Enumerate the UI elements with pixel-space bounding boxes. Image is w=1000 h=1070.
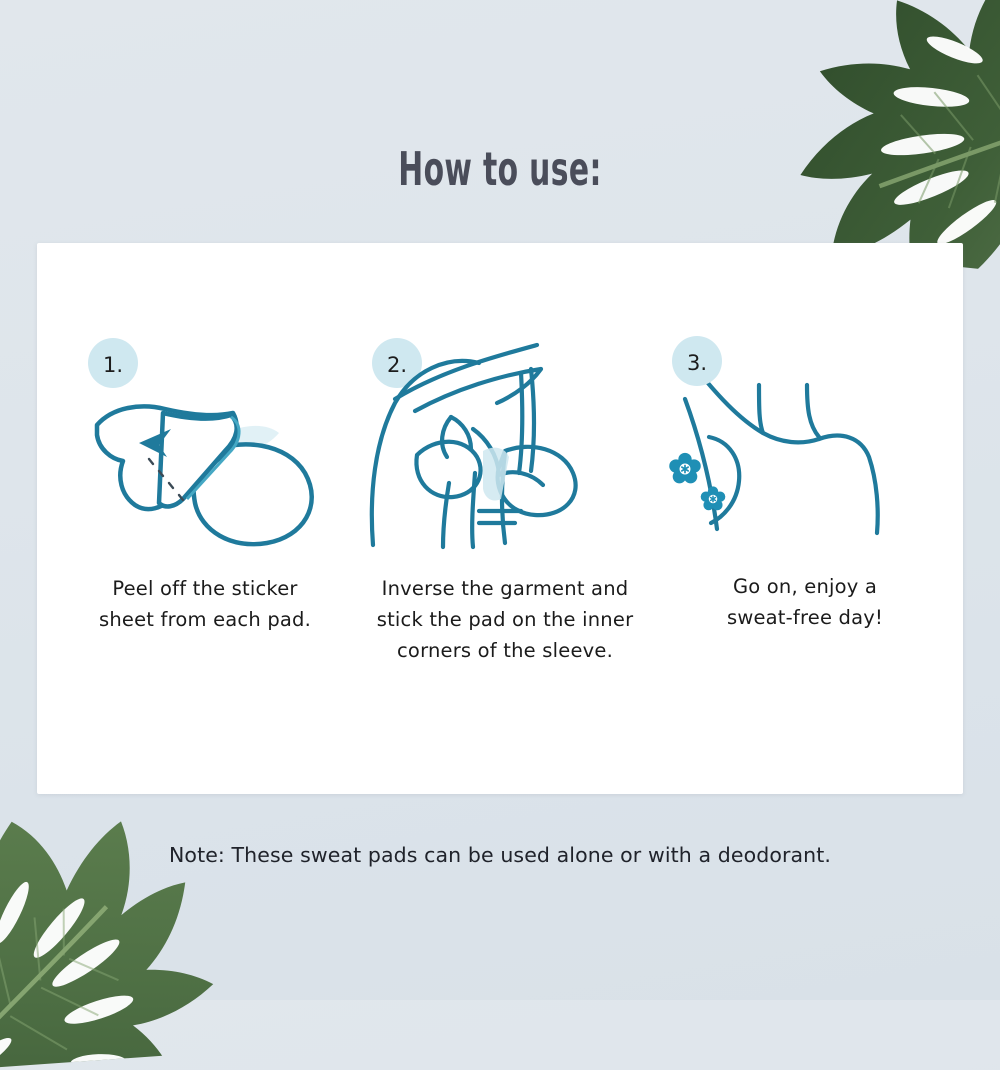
step-3: 3.	[655, 243, 955, 794]
monstera-leaf-bottom-left	[0, 756, 310, 1070]
step-3-caption: Go on, enjoy a sweat-free day!	[655, 571, 955, 633]
step-2: 2.	[355, 243, 655, 794]
freshness-flower-small	[701, 486, 726, 510]
step-2-caption: Inverse the garment and stick the pad on…	[355, 573, 655, 666]
shoulders-fresh-flowers-illustration: 3.	[655, 333, 955, 563]
instructions-card: 1. Peel off the sticker shee	[37, 243, 963, 794]
step-3-number: 3.	[687, 351, 707, 375]
step-2-number: 2.	[387, 353, 407, 377]
footer-note: Note: These sweat pads can be used alone…	[0, 843, 1000, 867]
step-1-caption: Peel off the sticker sheet from each pad…	[55, 573, 355, 635]
freshness-flower-large	[669, 453, 701, 484]
monstera-leaf-top-right	[703, 0, 1000, 274]
sweat-pad-peel-sticker-illustration: 1.	[55, 333, 355, 563]
inverted-garment-sleeve-illustration: 2.	[355, 333, 655, 563]
steps-container: 1. Peel off the sticker shee	[37, 243, 963, 794]
step-1-number: 1.	[103, 353, 123, 377]
step-1: 1. Peel off the sticker shee	[55, 243, 355, 794]
page-title: How to use:	[140, 142, 860, 196]
